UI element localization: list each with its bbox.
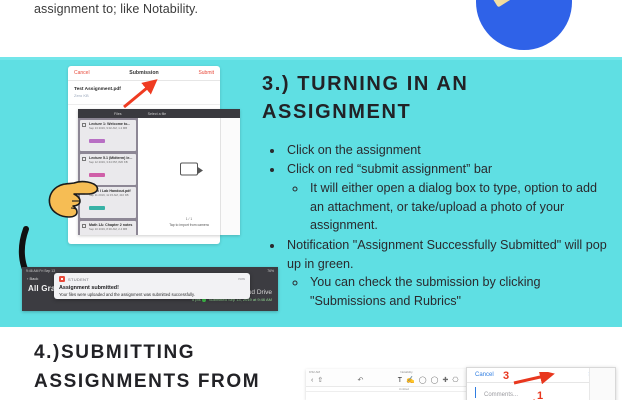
text-tool-icon[interactable]: T bbox=[398, 377, 402, 384]
bullet-level-2: You can check the submission by clicking… bbox=[307, 273, 612, 310]
top-section: assignment to; like Notability. bbox=[0, 0, 622, 57]
toast-title: Assignment submitted! bbox=[59, 285, 245, 291]
list-item-subtitle: Sep 12 2019, 3:44 PM, 820 KB bbox=[89, 160, 134, 164]
toast-body: Your files were uploaded and the assignm… bbox=[59, 292, 245, 297]
intro-paragraph: assignment to; like Notability. bbox=[34, 2, 198, 16]
list-item-title: Lecture 5.1 (Midterm) le... bbox=[89, 156, 134, 160]
video-camera-icon bbox=[180, 163, 198, 176]
dialog-right-strip bbox=[589, 368, 615, 400]
dialog-cancel-button[interactable]: Cancel bbox=[475, 372, 494, 378]
band-top-rule bbox=[0, 57, 622, 60]
toast-timestamp: now bbox=[238, 277, 245, 281]
files-picker-screenshot: Files Select a file Lecture 1: Welcome t… bbox=[78, 109, 240, 235]
section-4-heading-line-2: ASSIGNMENTS FROM bbox=[34, 368, 260, 397]
list-item: Click on the assignment bbox=[284, 141, 612, 160]
section-3-heading-line-2: ASSIGNMENT bbox=[262, 98, 612, 126]
lasso-icon[interactable]: ✚ bbox=[442, 377, 448, 384]
highlighter-icon[interactable]: ◯ bbox=[419, 377, 427, 384]
bullet-level-1: Click on the assignment Click on red “su… bbox=[284, 141, 612, 311]
pen-tool-icon[interactable]: ✍ bbox=[406, 377, 415, 384]
notability-app-icon bbox=[476, 0, 572, 50]
comments-input[interactable]: Comments... bbox=[475, 387, 518, 398]
section-4-heading-line-1: 4.)SUBMITTING bbox=[34, 339, 260, 368]
section-3-bullet-list: Click on the assignment Click on red “su… bbox=[262, 141, 612, 311]
list-item-subtitle: Sep 13 2019, 9:02 AM, 1.2 MB bbox=[89, 126, 134, 130]
back-label: Back bbox=[29, 276, 38, 281]
section-3-heading: 3.) TURNING IN AN ASSIGNMENT bbox=[262, 70, 612, 127]
student-app-icon bbox=[59, 276, 65, 282]
submit-dialog-screenshot: Cancel Submit Comments... 3 1 2 bbox=[466, 367, 616, 400]
files-picker-subtitle: Select a file bbox=[148, 112, 167, 116]
mockup-nav-title: Submission bbox=[68, 70, 220, 76]
step-number-3: 3 bbox=[503, 370, 509, 382]
files-picker-body: Lecture 1: Welcome to... Sep 13 2019, 9:… bbox=[78, 118, 240, 235]
toolbar-left-group: ‹ ⇧ bbox=[311, 377, 323, 384]
list-item-tag bbox=[89, 139, 105, 143]
infographic-page: assignment to; like Notability. Cancel S… bbox=[0, 0, 622, 400]
step-number-1: 1 bbox=[537, 390, 543, 400]
section-3-text-column: 3.) TURNING IN AN ASSIGNMENT Click on th… bbox=[262, 70, 612, 311]
list-item: Notification "Assignment Successfully Su… bbox=[284, 236, 612, 311]
list-item-text: Click on red “submit assignment” bar bbox=[287, 162, 492, 176]
list-item: You can check the submission by clicking… bbox=[307, 273, 612, 310]
bullet-level-2: It will either open a dialog box to type… bbox=[307, 179, 612, 235]
list-item-tag bbox=[89, 173, 105, 177]
checkbox-icon[interactable] bbox=[82, 224, 86, 228]
files-picker-topbar: Files Select a file bbox=[78, 109, 240, 118]
files-picker-title: Files bbox=[114, 112, 122, 116]
toast-app-name: STUDENT bbox=[68, 277, 89, 282]
list-item[interactable]: Lecture 1: Welcome to... Sep 13 2019, 9:… bbox=[80, 120, 136, 151]
section-3-heading-line-1: 3.) TURNING IN AN bbox=[262, 70, 612, 98]
undo-icon[interactable]: ↶ bbox=[358, 377, 364, 384]
list-item: It will either open a dialog box to type… bbox=[307, 179, 612, 235]
toolbar-tools-group: T ✍ ◯ ◯ ✚ ⎔ bbox=[398, 377, 459, 384]
list-item-subtitle: Sep 10 2019, 8:30 AM, 2.4 MB bbox=[89, 227, 134, 231]
section-4: 4.)SUBMITTING ASSIGNMENTS FROM 9:52 AM N… bbox=[0, 327, 622, 400]
status-time: 9:52 AM bbox=[309, 370, 320, 374]
submission-toast-notification[interactable]: STUDENT now Assignment submitted! Your f… bbox=[54, 273, 250, 299]
toast-header: STUDENT now bbox=[59, 276, 245, 282]
back-chevron-icon[interactable]: ‹ bbox=[311, 377, 313, 384]
section-3-band: Cancel Submission Submit Test Assignment… bbox=[0, 57, 622, 327]
list-item-title: Math 1A: Chapter 2 notes bbox=[89, 223, 134, 227]
red-arrow-step-3-icon bbox=[511, 372, 557, 386]
eraser-icon[interactable]: ◯ bbox=[431, 377, 439, 384]
share-icon[interactable]: ⇧ bbox=[317, 377, 323, 384]
list-item: Click on red “submit assignment” bar It … bbox=[284, 160, 612, 235]
pencil-body-icon bbox=[488, 0, 553, 7]
list-item-text: Notification "Assignment Successfully Su… bbox=[287, 238, 607, 271]
status-app-name: Notability bbox=[400, 370, 412, 374]
status-time: 9:46 AM Fri Sep 13 bbox=[26, 269, 55, 273]
checkbox-icon[interactable] bbox=[82, 157, 86, 161]
section-4-heading: 4.)SUBMITTING ASSIGNMENTS FROM bbox=[34, 339, 260, 396]
scissors-icon[interactable]: ⎔ bbox=[452, 377, 458, 384]
files-picker-right-panel bbox=[220, 118, 240, 235]
checkbox-icon[interactable] bbox=[82, 123, 86, 127]
red-arrow-to-submit-icon bbox=[118, 79, 160, 109]
pointing-hand-icon bbox=[44, 177, 100, 223]
